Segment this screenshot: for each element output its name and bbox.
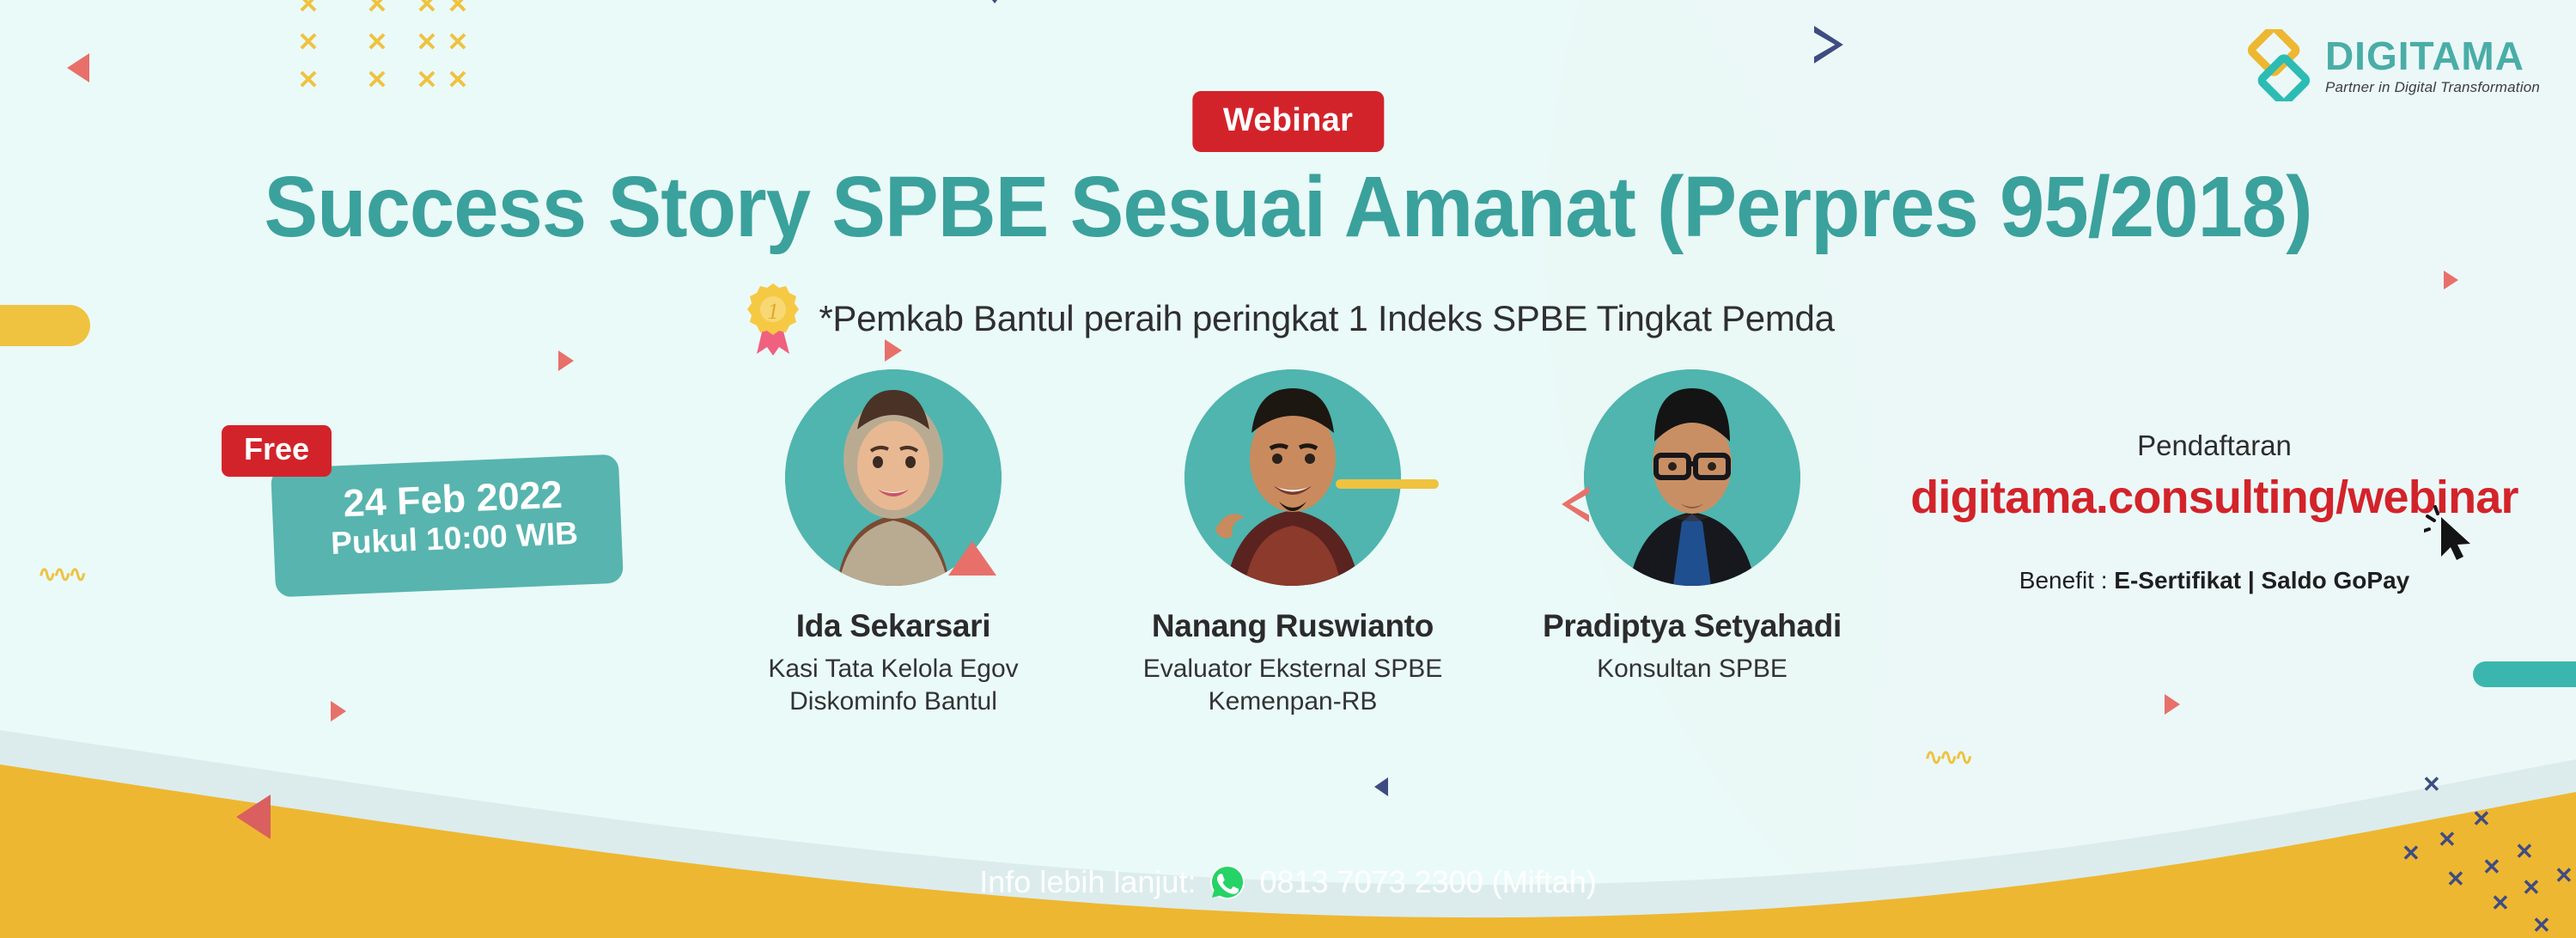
subtitle-row: 1 *Pemkab Bantul peraih peringkat 1 Inde… xyxy=(0,282,2576,356)
registration-label: Pendaftaran xyxy=(1901,429,2528,462)
digitama-logo[interactable]: DIGITAMA Partner in Digital Transformati… xyxy=(2243,29,2540,101)
x-mark: ✕ xyxy=(2438,826,2457,853)
triangle-icon xyxy=(977,0,1012,3)
x-mark: ✕ xyxy=(402,24,452,62)
webinar-banner: ✕ ✕ ✕ ✕ ✕ ✕ ✕ ✕ ✕ ✕ ✕ ✕ ∿∿∿ ∿∿∿ ✕ ✕ ✕ ✕ … xyxy=(0,0,2576,938)
x-mark: ✕ xyxy=(2402,840,2421,867)
page-title: Success Story SPBE Sesuai Amanat (Perpre… xyxy=(77,158,2499,257)
speaker-card: Pradiptya Setyahadi Konsultan SPBE xyxy=(1512,369,1873,717)
digitama-logo-icon xyxy=(2243,29,2315,101)
zigzag-icon: ∿∿∿ xyxy=(38,563,83,585)
event-date-card: 24 Feb 2022 Pukul 10:00 WIB Free xyxy=(222,425,625,606)
webinar-badge: Webinar xyxy=(1192,91,1384,152)
free-badge: Free xyxy=(222,425,332,477)
date-card-text: 24 Feb 2022 Pukul 10:00 WIB xyxy=(280,472,626,563)
x-pattern-top-left: ✕ ✕ ✕ ✕ ✕ ✕ ✕ ✕ ✕ ✕ ✕ ✕ xyxy=(283,0,483,100)
registration-block: Pendaftaran digitama.consulting/webinar … xyxy=(1901,429,2528,594)
benefit-items: E-Sertifikat | Saldo GoPay xyxy=(2114,567,2409,594)
triangle-icon xyxy=(67,53,89,82)
x-mark: ✕ xyxy=(352,0,402,24)
triangle-icon xyxy=(331,701,346,722)
x-mark: ✕ xyxy=(2472,806,2491,832)
speaker-name: Ida Sekarsari xyxy=(713,608,1074,644)
logo-wordmark: DIGITAMA xyxy=(2325,36,2540,76)
x-mark: ✕ xyxy=(2532,912,2551,938)
footer-info-label: Info lebih lanjut: xyxy=(979,864,1196,900)
x-mark: ✕ xyxy=(352,62,402,100)
x-mark: ✕ xyxy=(2515,838,2534,865)
speaker-name: Nanang Ruswianto xyxy=(1112,608,1473,644)
medal-ribbon-icon: 1 xyxy=(741,282,805,356)
speaker-role-line: Konsultan SPBE xyxy=(1512,653,1873,685)
speaker-card: Nanang Ruswianto Evaluator Eksternal SPB… xyxy=(1112,369,1473,717)
footer-phone: 0813 7073 2300 (Miftah) xyxy=(1259,864,1596,900)
avatar xyxy=(1584,369,1800,586)
triangle-icon xyxy=(948,541,996,576)
x-mark: ✕ xyxy=(402,62,452,100)
triangle-icon xyxy=(2165,694,2180,715)
pill-accent-right xyxy=(2473,661,2576,687)
cursor-click-icon xyxy=(2424,505,2479,565)
medal-number: 1 xyxy=(768,299,779,324)
benefit-prefix: Benefit : xyxy=(2019,567,2115,594)
x-mark: ✕ xyxy=(283,24,333,62)
avatar-wrap xyxy=(1584,369,1800,586)
page-subtitle: *Pemkab Bantul peraih peringkat 1 Indeks… xyxy=(819,298,1834,339)
registration-benefit: Benefit : E-Sertifikat | Saldo GoPay xyxy=(1901,567,2528,594)
speaker-role-line: Kasi Tata Kelola Egov xyxy=(713,653,1074,685)
avatar-wrap xyxy=(785,369,1002,586)
x-scatter-bottom-right: ✕ ✕ ✕ ✕ ✕ ✕ ✕ ✕ ✕ ✕ ✕ xyxy=(2371,764,2576,936)
x-mark: ✕ xyxy=(352,24,402,62)
x-mark: ✕ xyxy=(283,0,333,24)
speaker-role-line: Evaluator Eksternal SPBE xyxy=(1112,653,1473,685)
triangle-icon xyxy=(1374,777,1388,796)
speaker-role-line: Kemenpan-RB xyxy=(1112,685,1473,718)
speaker-role-line: Diskominfo Bantul xyxy=(713,685,1074,718)
zigzag-icon: ∿∿∿ xyxy=(1924,746,1970,768)
speaker-card: Ida Sekarsari Kasi Tata Kelola Egov Disk… xyxy=(713,369,1074,717)
speaker-role: Konsultan SPBE xyxy=(1512,653,1873,685)
avatar-wrap xyxy=(1184,369,1401,586)
x-mark: ✕ xyxy=(402,0,452,24)
line-accent xyxy=(1336,479,1439,489)
whatsapp-icon[interactable] xyxy=(1209,864,1245,900)
x-mark: ✕ xyxy=(2422,771,2441,798)
speaker-role: Evaluator Eksternal SPBE Kemenpan-RB xyxy=(1112,653,1473,717)
registration-url[interactable]: digitama.consulting/webinar xyxy=(1910,471,2518,524)
speaker-name: Pradiptya Setyahadi xyxy=(1512,608,1873,644)
speaker-role: Kasi Tata Kelola Egov Diskominfo Bantul xyxy=(713,653,1074,717)
x-mark: ✕ xyxy=(283,62,333,100)
triangle-icon xyxy=(236,795,271,839)
speaker-list: Ida Sekarsari Kasi Tata Kelola Egov Disk… xyxy=(713,369,1873,717)
logo-tagline: Partner in Digital Transformation xyxy=(2325,80,2540,94)
avatar xyxy=(1184,369,1401,586)
footer-contact: Info lebih lanjut: 0813 7073 2300 (Mifta… xyxy=(0,864,2576,900)
